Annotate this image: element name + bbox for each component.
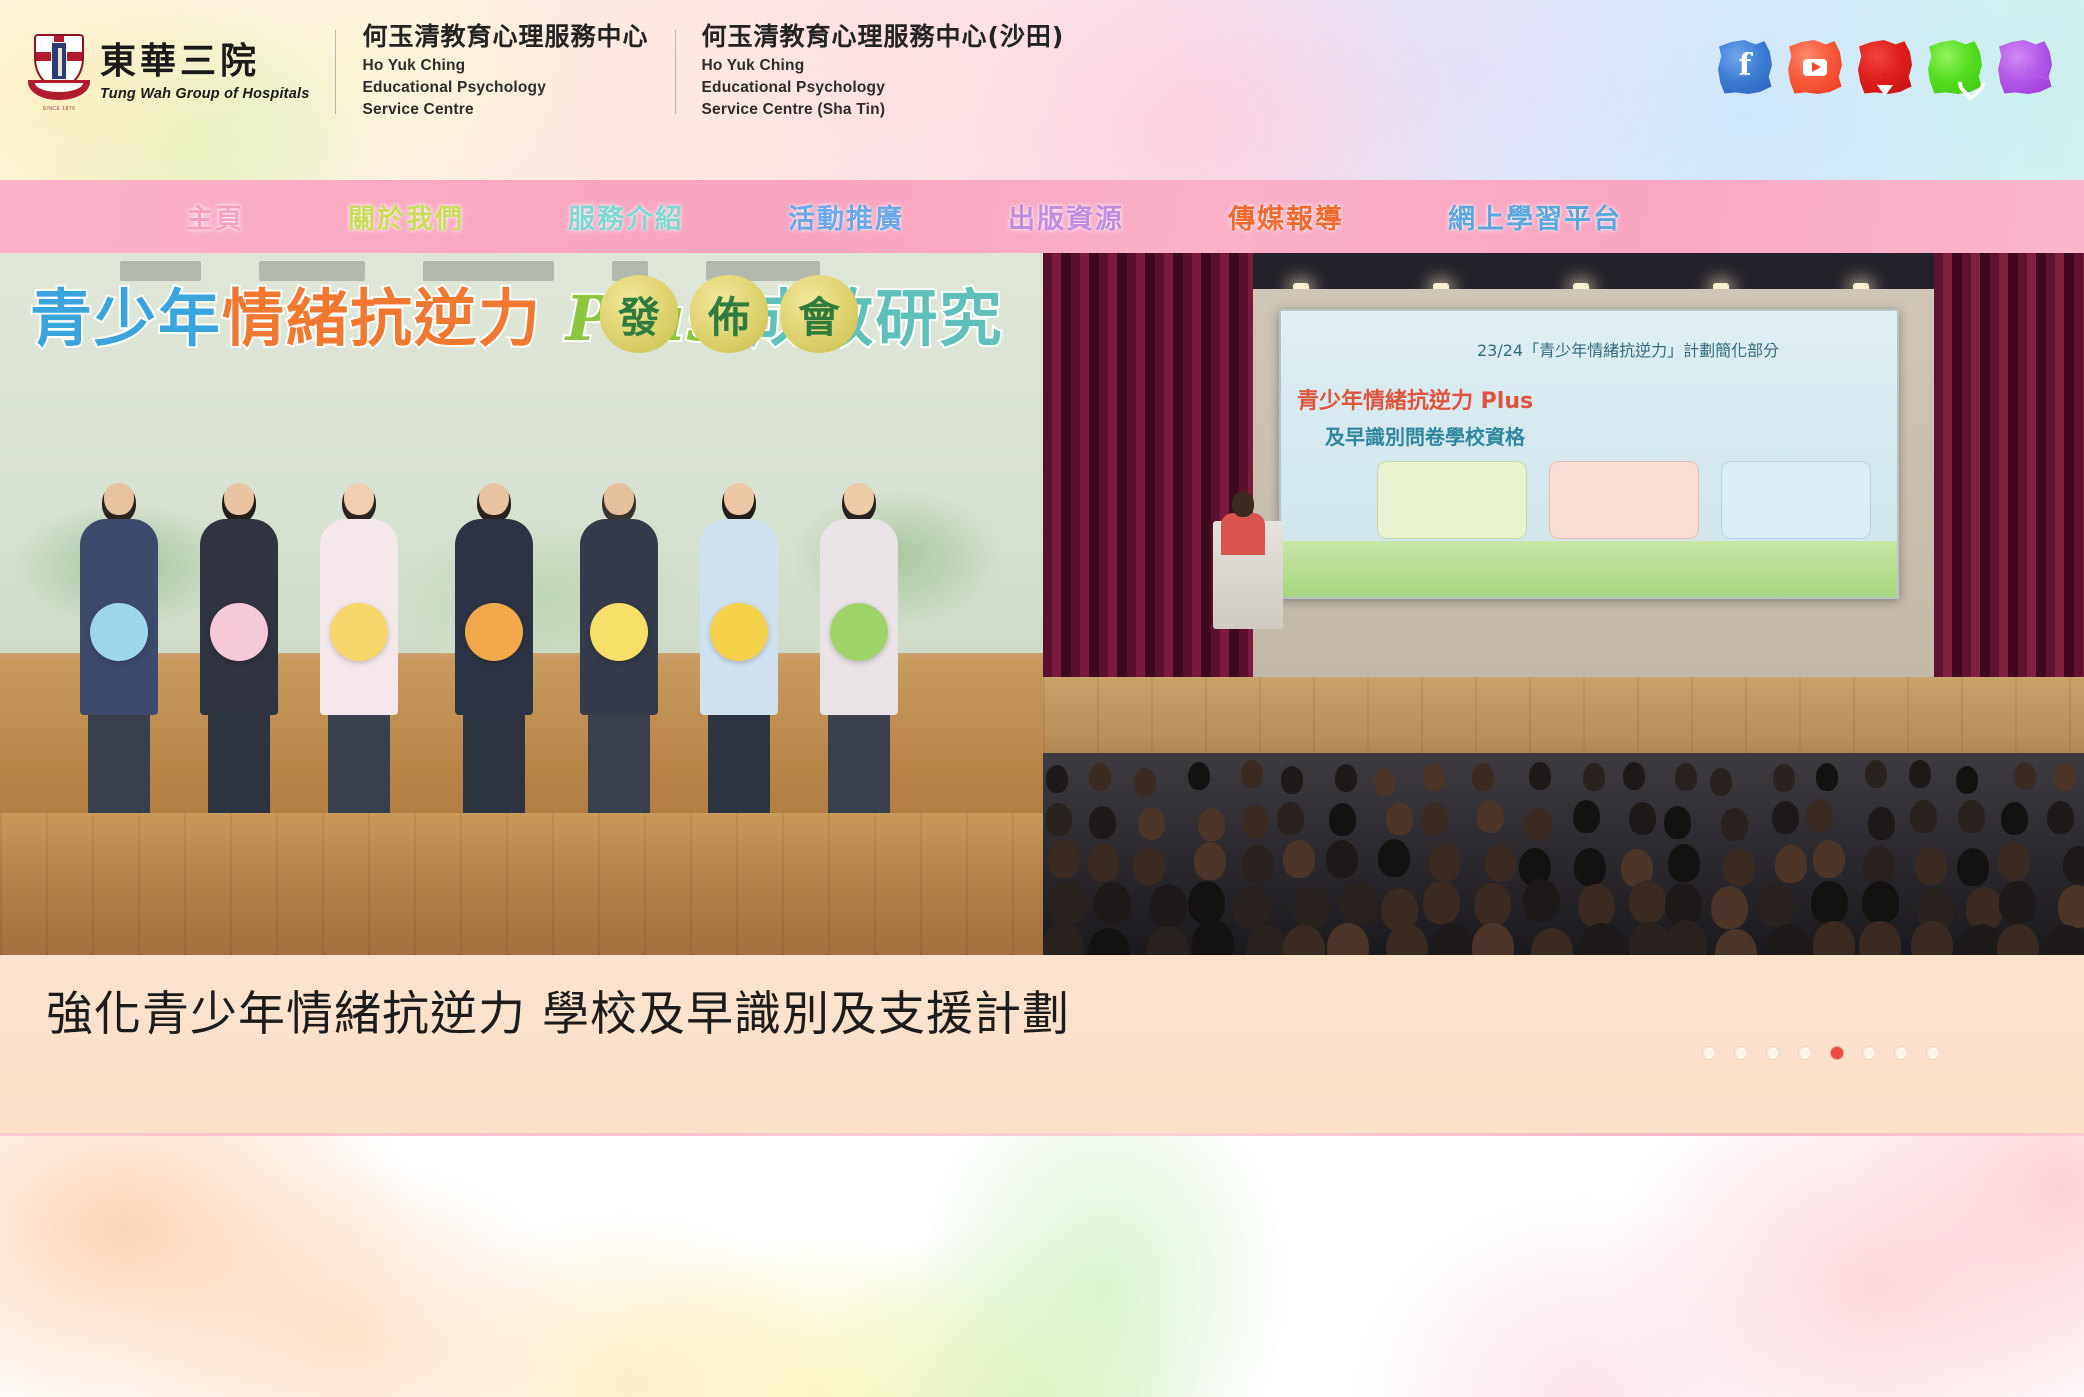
audience-head — [1474, 883, 1511, 926]
audience-head — [1862, 881, 1899, 924]
carousel-dot-2[interactable] — [1767, 1047, 1779, 1059]
facebook-icon[interactable]: f — [1718, 40, 1772, 94]
audience-head — [2045, 925, 2084, 955]
centre-shatin-en-line3: Service Centre (Sha Tin) — [702, 99, 1065, 121]
site-header: SINCE 1870 東華三院 Tung Wah Group of Hospit… — [0, 0, 2084, 180]
centre-shatin-name-cn: 何玉清教育心理服務中心(沙田) — [702, 23, 1065, 51]
audience-head — [1665, 920, 1707, 956]
poster-badge-2: 佈 — [690, 275, 768, 353]
audience-head — [2058, 885, 2084, 928]
audience-head — [1374, 768, 1396, 796]
audience-head — [1664, 806, 1691, 839]
audience-head — [1192, 920, 1234, 955]
audience-head — [1868, 807, 1895, 840]
audience-head — [1813, 840, 1845, 878]
audience-head — [1477, 800, 1504, 833]
audience-head — [1723, 848, 1755, 886]
centre-shatin-en-line2: Educational Psychology — [702, 77, 1065, 99]
audience-head — [1329, 803, 1356, 836]
audience-head — [1721, 808, 1748, 841]
group-photo-people — [0, 493, 1043, 833]
screen-heading-2: 及早識別問卷學校資格 — [1325, 421, 1525, 450]
person-3 — [455, 483, 533, 833]
audience-head — [2063, 846, 2084, 884]
audience-head — [1045, 803, 1072, 836]
poster-title-part1: 青少年 — [30, 282, 222, 355]
audience-head — [1340, 881, 1377, 924]
audience-head — [2047, 801, 2074, 834]
audience-head — [1711, 886, 1748, 929]
audience-head — [1865, 760, 1887, 788]
audience-head — [1089, 806, 1116, 839]
brand-row: SINCE 1870 東華三院 Tung Wah Group of Hospit… — [28, 26, 1064, 118]
speaker-person — [1232, 491, 1254, 517]
audience-head — [1956, 766, 1978, 794]
screen-heading-1: 青少年情緒抗逆力 Plus — [1297, 383, 1533, 415]
whatsapp-icon[interactable] — [1928, 40, 1982, 94]
poster-badge-1: 發 — [600, 275, 678, 353]
audience-head — [1583, 763, 1605, 791]
plush-prop-4 — [590, 603, 648, 661]
org-name-cn: 東華三院 — [100, 43, 309, 79]
nav-item-3[interactable]: 活動推廣 — [788, 197, 904, 236]
audience-head — [1668, 844, 1700, 882]
audience-head — [1088, 928, 1130, 955]
audience-head — [1242, 805, 1269, 838]
audience-head — [1133, 847, 1165, 885]
audience-head — [1429, 843, 1461, 881]
audience-head — [1909, 760, 1931, 788]
audience-head — [1246, 925, 1288, 955]
person-6 — [820, 483, 898, 833]
audience-head — [2014, 762, 2036, 790]
centre-name-cn: 何玉清教育心理服務中心 — [362, 23, 648, 51]
youtube-icon[interactable] — [1788, 40, 1842, 94]
audience-head — [1710, 768, 1732, 796]
audience-seating — [1043, 753, 2084, 955]
audience-head — [1335, 764, 1357, 792]
audience-head — [1531, 928, 1573, 955]
centre-block-shatin: 何玉清教育心理服務中心(沙田) Ho Yuk Ching Educational… — [702, 23, 1065, 121]
audience-head — [1573, 800, 1600, 833]
audience-head — [1806, 799, 1833, 832]
audience-head — [1629, 880, 1666, 923]
audience-head — [1423, 881, 1460, 924]
plush-prop-6 — [830, 603, 888, 661]
location-pin-icon[interactable] — [1858, 40, 1912, 94]
plush-prop-3 — [465, 603, 523, 661]
audience-head — [1629, 802, 1656, 835]
audience-head — [1046, 765, 1068, 793]
plush-prop-1 — [210, 603, 268, 661]
carousel-slide-press-conference[interactable]: 青少年情緒抗逆力 Plus 成效研究 發 佈 會 — [0, 253, 1043, 955]
audience-head — [1049, 881, 1086, 924]
plush-prop-2 — [330, 603, 388, 661]
carousel-caption: 強化青少年情緒抗逆力 學校及早識別及支援計劃 — [46, 975, 1070, 1044]
person-0 — [80, 483, 158, 833]
audience-head — [1472, 923, 1514, 955]
audience-head — [1775, 845, 1807, 883]
audience-head — [1094, 882, 1131, 925]
audience-head — [1277, 802, 1304, 835]
audience-head — [1915, 847, 1947, 885]
audience-head — [1863, 846, 1895, 884]
carousel-dot-7[interactable] — [1927, 1047, 1939, 1059]
person-1 — [200, 483, 278, 833]
audience-head — [1574, 848, 1606, 886]
audience-head — [2054, 763, 2076, 791]
press-conference-photo: 青少年情緒抗逆力 Plus 成效研究 發 佈 會 — [0, 253, 1043, 955]
audience-head — [1957, 848, 1989, 886]
twgh-crest-logo: SINCE 1870 — [28, 32, 90, 112]
org-name-en: Tung Wah Group of Hospitals — [100, 86, 309, 102]
audience-head — [1089, 763, 1111, 791]
crest-since-label: SINCE 1870 — [28, 106, 90, 112]
brand-divider-1 — [335, 30, 336, 114]
centre-en-line1: Ho Yuk Ching — [362, 55, 648, 77]
audience-head — [1432, 923, 1474, 955]
audience-head — [1813, 921, 1855, 955]
poster-badge-3: 會 — [780, 275, 858, 353]
audience-head — [1715, 929, 1757, 955]
centre-block-main: 何玉清教育心理服務中心 Ho Yuk Ching Educational Psy… — [362, 23, 648, 121]
audience-head — [1233, 886, 1270, 929]
band-bottom-edge — [0, 1133, 2084, 1136]
audience-head — [1087, 844, 1119, 882]
audience-head — [1525, 808, 1552, 841]
carousel-dot-3[interactable] — [1799, 1047, 1811, 1059]
centre-name-en: Ho Yuk Ching Educational Psychology Serv… — [362, 55, 648, 121]
audience-head — [1188, 881, 1225, 924]
audience-head — [1242, 845, 1274, 883]
auditorium-photo: 23/24「青少年情緒抗逆力」計劃簡化部分 青少年情緒抗逆力 Plus 及早識別… — [1043, 253, 2084, 955]
audience-head — [1293, 885, 1330, 928]
audience-head — [1241, 760, 1263, 788]
plush-prop-5 — [710, 603, 768, 661]
audience-head — [1194, 842, 1226, 880]
centre-shatin-en-line1: Ho Yuk Ching — [702, 55, 1065, 77]
audience-head — [1134, 768, 1156, 796]
audience-head — [1283, 925, 1325, 955]
centre-en-line2: Educational Psychology — [362, 77, 648, 99]
audience-head — [1910, 800, 1937, 833]
nav-item-5[interactable]: 傳媒報導 — [1228, 197, 1344, 236]
audience-head — [1523, 879, 1560, 922]
audience-head — [1327, 923, 1369, 955]
audience-head — [1150, 884, 1187, 927]
audience-head — [1773, 764, 1795, 792]
carousel-slide-auditorium[interactable]: 23/24「青少年情緒抗逆力」計劃簡化部分 青少年情緒抗逆力 Plus 及早識別… — [1043, 253, 2084, 955]
plush-prop-0 — [90, 603, 148, 661]
audience-head — [1386, 802, 1413, 835]
carousel-dot-5[interactable] — [1863, 1047, 1875, 1059]
audience-head — [1421, 803, 1448, 836]
hero-carousel[interactable]: 青少年情緒抗逆力 Plus 成效研究 發 佈 會 — [0, 253, 2084, 955]
main-navigation: 主頁關於我們服務介紹活動推廣出版資源傳媒報導網上學習平台 — [0, 180, 2084, 253]
stage-floor — [0, 813, 1043, 955]
audience-head — [1581, 923, 1623, 955]
carousel-dot-1[interactable] — [1735, 1047, 1747, 1059]
nav-item-6[interactable]: 網上學習平台 — [1448, 197, 1622, 236]
audience-head — [1198, 808, 1225, 841]
carousel-dot-4[interactable] — [1831, 1047, 1843, 1059]
audience-head — [1472, 763, 1494, 791]
audience-head — [1578, 884, 1615, 927]
nav-item-2[interactable]: 服務介紹 — [568, 197, 684, 236]
brand-divider-2 — [675, 30, 676, 114]
audience-head — [1386, 924, 1428, 955]
audience-head — [1281, 766, 1303, 794]
audience-head — [1283, 840, 1315, 878]
audience-head — [1147, 926, 1189, 955]
audience-head — [1772, 801, 1799, 834]
audience-head — [1768, 924, 1810, 955]
audience-head — [1623, 762, 1645, 790]
carousel-caption-band: 強化青少年情緒抗逆力 學校及早識別及支援計劃 — [0, 955, 2084, 1133]
nav-item-4[interactable]: 出版資源 — [1008, 197, 1124, 236]
org-name-block: 東華三院 Tung Wah Group of Hospitals — [100, 43, 309, 102]
person-5 — [700, 483, 778, 833]
email-icon[interactable] — [1998, 40, 2052, 94]
audience-head — [1326, 840, 1358, 878]
audience-head — [1997, 924, 2039, 955]
audience-head — [1043, 923, 1084, 955]
nav-item-1[interactable]: 關於我們 — [348, 197, 464, 236]
audience-head — [1998, 843, 2030, 881]
audience-head — [1048, 840, 1080, 878]
audience-head — [1958, 800, 1985, 833]
audience-head — [1138, 807, 1165, 840]
audience-head — [1675, 763, 1697, 791]
nav-item-0[interactable]: 主頁 — [186, 197, 244, 236]
audience-head — [1816, 763, 1838, 791]
carousel-dot-6[interactable] — [1895, 1047, 1907, 1059]
audience-head — [1758, 884, 1795, 927]
centre-shatin-name-en: Ho Yuk Ching Educational Psychology Serv… — [702, 55, 1065, 121]
poster-badges: 發 佈 會 — [600, 275, 858, 353]
audience-head — [1378, 839, 1410, 877]
social-links: f — [1718, 40, 2052, 94]
carousel-dots[interactable] — [1703, 1047, 1939, 1059]
carousel-dot-0[interactable] — [1703, 1047, 1715, 1059]
audience-head — [1859, 921, 1901, 955]
poster-title-part2: 情緒抗逆力 — [222, 282, 542, 355]
person-4 — [580, 483, 658, 833]
audience-head — [1485, 844, 1517, 882]
audience-head — [2001, 802, 2028, 835]
centre-en-line3: Service Centre — [362, 99, 648, 121]
audience-head — [1999, 881, 2036, 924]
person-2 — [320, 483, 398, 833]
presentation-screen: 23/24「青少年情緒抗逆力」計劃簡化部分 青少年情緒抗逆力 Plus 及早識別… — [1279, 309, 1899, 599]
audience-head — [1188, 762, 1210, 790]
audience-head — [1423, 763, 1445, 791]
audience-head — [1811, 881, 1848, 924]
audience-head — [1529, 762, 1551, 790]
screen-title: 23/24「青少年情緒抗逆力」計劃簡化部分 — [1477, 337, 1779, 361]
